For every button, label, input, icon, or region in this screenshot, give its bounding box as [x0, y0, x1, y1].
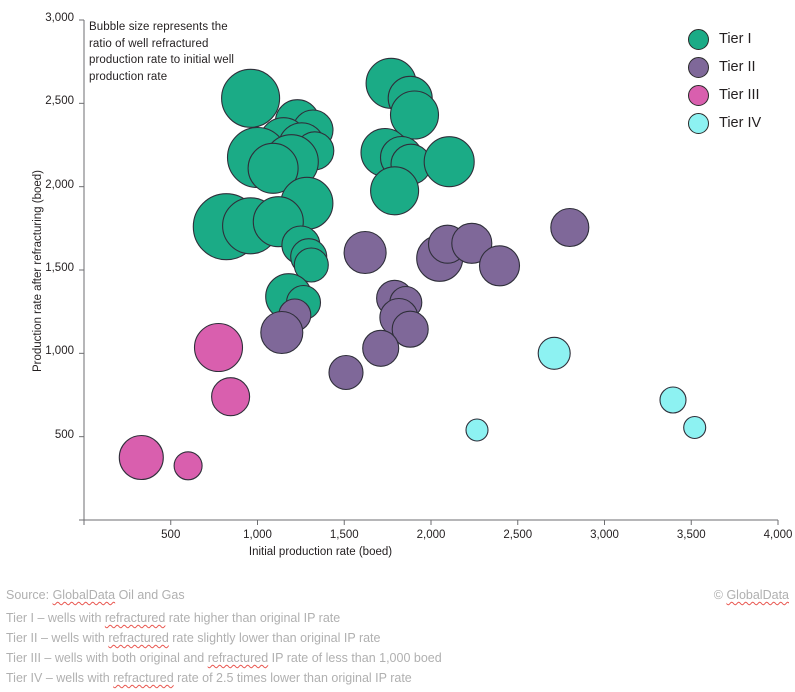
legend: Tier ITier IITier IIITier IV — [688, 25, 792, 137]
tier-definition-misspelled-word: refractured — [208, 651, 268, 665]
x-tick-label: 2,500 — [488, 529, 548, 541]
bubble-point[interactable] — [371, 167, 419, 215]
legend-label: Tier IV — [719, 115, 761, 131]
y-tick-label: 1,000 — [28, 345, 74, 357]
legend-label: Tier I — [719, 31, 752, 47]
tier-definition-prefix: Tier III – wells with both original and — [6, 651, 208, 665]
x-axis-title-text: Initial production rate (boed) — [249, 546, 392, 558]
tier-definition-prefix: Tier IV – wells with — [6, 671, 113, 685]
x-tick-label: 3,500 — [661, 529, 721, 541]
bubble-point[interactable] — [261, 312, 303, 354]
legend-swatch-icon — [688, 85, 709, 106]
source-brand: GlobalData — [53, 588, 116, 602]
y-tick-label: 2,000 — [28, 179, 74, 191]
source-suffix: Oil and Gas — [115, 588, 184, 602]
y-tick-label: 3,000 — [28, 12, 74, 24]
tier-definition-text: Tier III – wells with both original and … — [6, 648, 442, 668]
bubble-point[interactable] — [329, 356, 363, 390]
bubble-point[interactable] — [195, 324, 243, 372]
bubble-point[interactable] — [684, 417, 706, 439]
y-tick-label: 1,500 — [28, 262, 74, 274]
legend-item-tier-ii[interactable]: Tier II — [688, 53, 792, 81]
source-prefix: Source: — [6, 588, 53, 602]
source-text: Source: GlobalData Oil and Gas — [6, 586, 185, 605]
tier-definition-prefix: Tier I – wells with — [6, 611, 105, 625]
copyright-symbol: © — [714, 588, 727, 602]
legend-item-tier-iv[interactable]: Tier IV — [688, 109, 792, 137]
tier-definition-prefix: Tier II – wells with — [6, 631, 108, 645]
tier-definition-suffix: rate higher than original IP rate — [165, 611, 340, 625]
legend-item-tier-iii[interactable]: Tier III — [688, 81, 792, 109]
tier-definition-suffix: IP rate of less than 1,000 boed — [268, 651, 442, 665]
tier-definition-suffix: rate of 2.5 times lower than original IP… — [174, 671, 412, 685]
bubble-point[interactable] — [480, 246, 520, 286]
tier-definition-misspelled-word: refractured — [105, 611, 165, 625]
tier-definition-row: Tier II – wells with refractured rate sl… — [0, 628, 795, 648]
bubble-point[interactable] — [363, 330, 399, 366]
y-tick-label: 2,500 — [28, 95, 74, 107]
tier-definition-row: Tier I – wells with refractured rate hig… — [0, 608, 795, 628]
copyright-text: © GlobalData — [714, 586, 789, 605]
x-tick-label: 1,500 — [314, 529, 374, 541]
legend-swatch-icon — [688, 29, 709, 50]
tier-definition-text: Tier II – wells with refractured rate sl… — [6, 628, 380, 648]
bubble-point[interactable] — [660, 387, 686, 413]
series-tier-iii — [119, 324, 249, 480]
bubble-point[interactable] — [344, 232, 386, 274]
bubble-size-annotation: Bubble size represents the ratio of well… — [89, 19, 249, 85]
chart-footer: Source: GlobalData Oil and Gas © GlobalD… — [0, 586, 795, 688]
legend-label: Tier II — [719, 59, 756, 75]
y-tick-label: 500 — [28, 429, 74, 441]
x-axis-title: Initial production rate (boed) — [0, 546, 795, 558]
bubble-chart: Bubble size represents the ratio of well… — [0, 0, 795, 692]
bubble-layer — [119, 58, 705, 480]
tier-definition-suffix: rate slightly lower than original IP rat… — [169, 631, 381, 645]
x-tick-label: 1,000 — [228, 529, 288, 541]
x-tick-label: 4,000 — [748, 529, 795, 541]
source-row: Source: GlobalData Oil and Gas © GlobalD… — [0, 586, 795, 605]
x-tick-label: 2,000 — [401, 529, 461, 541]
tier-definitions: Tier I – wells with refractured rate hig… — [0, 608, 795, 688]
tier-definition-row: Tier IV – wells with refractured rate of… — [0, 668, 795, 688]
series-tier-iv — [466, 337, 706, 441]
bubble-point[interactable] — [551, 209, 589, 247]
legend-swatch-icon — [688, 113, 709, 134]
tier-definition-row: Tier III – wells with both original and … — [0, 648, 795, 668]
bubble-point[interactable] — [174, 452, 202, 480]
bubble-point[interactable] — [212, 378, 250, 416]
tier-definition-text: Tier IV – wells with refractured rate of… — [6, 668, 412, 688]
tier-definition-misspelled-word: refractured — [113, 671, 173, 685]
legend-swatch-icon — [688, 57, 709, 78]
copyright-brand: GlobalData — [726, 588, 789, 602]
bubble-point[interactable] — [424, 137, 474, 187]
tier-definition-misspelled-word: refractured — [108, 631, 168, 645]
legend-label: Tier III — [719, 87, 760, 103]
bubble-point[interactable] — [119, 436, 163, 480]
bubble-point[interactable] — [466, 419, 488, 441]
legend-item-tier-i[interactable]: Tier I — [688, 25, 792, 53]
x-tick-label: 3,000 — [575, 529, 635, 541]
x-tick-label: 500 — [141, 529, 201, 541]
tier-definition-text: Tier I – wells with refractured rate hig… — [6, 608, 340, 628]
bubble-point[interactable] — [538, 337, 570, 369]
